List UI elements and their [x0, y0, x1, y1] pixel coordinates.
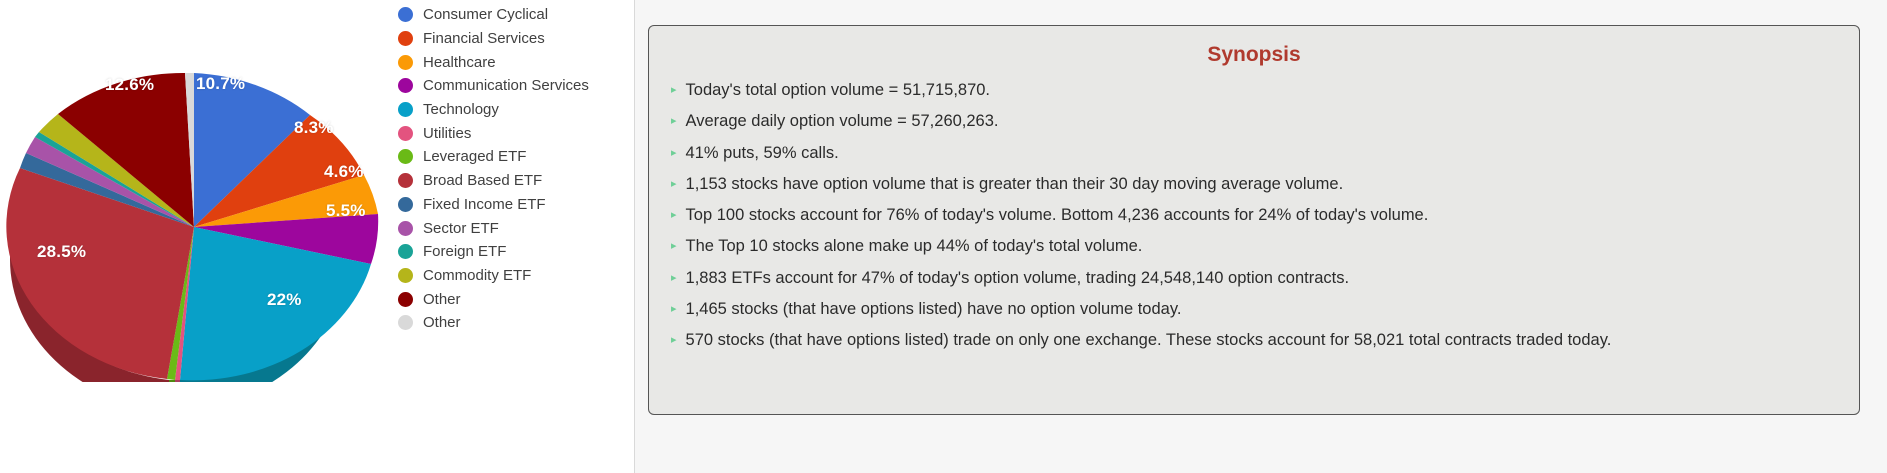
- bullet-triangle-icon: ▸: [671, 239, 677, 254]
- legend-swatch-icon: [398, 126, 413, 141]
- synopsis-bullet-text: Average daily option volume = 57,260,263…: [686, 112, 999, 130]
- legend-swatch-icon: [398, 149, 413, 164]
- synopsis-panel: Synopsis ▸Today's total option volume = …: [648, 25, 1860, 415]
- synopsis-bullet: ▸1,153 stocks have option volume that is…: [649, 174, 1859, 196]
- legend-label: Leveraged ETF: [423, 149, 526, 164]
- legend-label: Fixed Income ETF: [423, 197, 546, 212]
- synopsis-bullet: ▸1,465 stocks (that have options listed)…: [649, 299, 1859, 321]
- legend-item-communication-services[interactable]: Communication Services: [396, 74, 632, 98]
- legend-item-other-gray[interactable]: Other: [396, 311, 632, 335]
- legend-item-foreign-etf[interactable]: Foreign ETF: [396, 240, 632, 264]
- synopsis-bullet-text: 41% puts, 59% calls.: [686, 144, 839, 162]
- pie-label-communication-services: 5.5%: [326, 201, 366, 221]
- synopsis-bullet-text: 1,465 stocks (that have options listed) …: [686, 300, 1182, 318]
- synopsis-title: Synopsis: [649, 43, 1859, 67]
- synopsis-bullet: ▸1,883 ETFs account for 47% of today's o…: [649, 268, 1859, 290]
- legend-item-healthcare[interactable]: Healthcare: [396, 50, 632, 74]
- synopsis-bullet: ▸570 stocks (that have options listed) t…: [649, 330, 1859, 352]
- synopsis-bullet-list: ▸Today's total option volume = 51,715,87…: [649, 80, 1859, 352]
- legend-label: Commodity ETF: [423, 268, 531, 283]
- bullet-triangle-icon: ▸: [671, 208, 677, 223]
- chart-legend: Consumer Cyclical Financial Services Hea…: [396, 3, 632, 335]
- synopsis-bullet: ▸Today's total option volume = 51,715,87…: [649, 80, 1859, 102]
- pie-label-consumer-cyclical: 10.7%: [196, 74, 245, 94]
- synopsis-bullet-text: Today's total option volume = 51,715,870…: [686, 81, 991, 99]
- synopsis-bullet: ▸41% puts, 59% calls.: [649, 143, 1859, 165]
- legend-item-broad-based-etf[interactable]: Broad Based ETF: [396, 169, 632, 193]
- bullet-triangle-icon: ▸: [671, 271, 677, 286]
- legend-swatch-icon: [398, 197, 413, 212]
- legend-label: Financial Services: [423, 31, 545, 46]
- legend-swatch-icon: [398, 315, 413, 330]
- legend-label: Sector ETF: [423, 221, 499, 236]
- synopsis-bullet-text: The Top 10 stocks alone make up 44% of t…: [686, 237, 1143, 255]
- bullet-triangle-icon: ▸: [671, 177, 677, 192]
- legend-swatch-icon: [398, 55, 413, 70]
- bullet-triangle-icon: ▸: [671, 333, 677, 348]
- legend-label: Consumer Cyclical: [423, 7, 548, 22]
- legend-item-consumer-cyclical[interactable]: Consumer Cyclical: [396, 3, 632, 27]
- pie-chart[interactable]: 10.7% 8.3% 4.6% 5.5% 22% 28.5% 12.6%: [4, 22, 384, 382]
- pie-label-technology: 22%: [267, 290, 302, 310]
- synopsis-bullet-text: 1,883 ETFs account for 47% of today's op…: [686, 269, 1350, 287]
- legend-swatch-icon: [398, 78, 413, 93]
- legend-item-commodity-etf[interactable]: Commodity ETF: [396, 264, 632, 288]
- legend-label: Healthcare: [423, 55, 496, 70]
- legend-swatch-icon: [398, 244, 413, 259]
- bullet-triangle-icon: ▸: [671, 114, 677, 129]
- synopsis-bullet-text: 570 stocks (that have options listed) tr…: [686, 331, 1612, 349]
- legend-swatch-icon: [398, 268, 413, 283]
- legend-label: Foreign ETF: [423, 244, 506, 259]
- legend-item-utilities[interactable]: Utilities: [396, 121, 632, 145]
- synopsis-bullet: ▸Top 100 stocks account for 76% of today…: [649, 205, 1859, 227]
- legend-label: Utilities: [423, 126, 471, 141]
- pie-label-healthcare: 4.6%: [324, 162, 364, 182]
- legend-swatch-icon: [398, 221, 413, 236]
- legend-label: Other: [423, 292, 461, 307]
- legend-swatch-icon: [398, 173, 413, 188]
- legend-item-other-dark[interactable]: Other: [396, 287, 632, 311]
- legend-label: Broad Based ETF: [423, 173, 542, 188]
- synopsis-bullet-text: Top 100 stocks account for 76% of today'…: [686, 206, 1429, 224]
- legend-label: Technology: [423, 102, 499, 117]
- pie-label-other-dark: 12.6%: [105, 75, 154, 95]
- legend-item-sector-etf[interactable]: Sector ETF: [396, 216, 632, 240]
- synopsis-region: Synopsis ▸Today's total option volume = …: [635, 0, 1887, 473]
- pie-label-financial-services: 8.3%: [294, 118, 334, 138]
- legend-label: Communication Services: [423, 78, 589, 93]
- synopsis-bullet: ▸Average daily option volume = 57,260,26…: [649, 111, 1859, 133]
- legend-swatch-icon: [398, 7, 413, 22]
- bullet-triangle-icon: ▸: [671, 146, 677, 161]
- pie-label-broad-based-etf: 28.5%: [37, 242, 86, 262]
- legend-swatch-icon: [398, 102, 413, 117]
- legend-item-leveraged-etf[interactable]: Leveraged ETF: [396, 145, 632, 169]
- synopsis-bullet-text: 1,153 stocks have option volume that is …: [686, 175, 1344, 193]
- bullet-triangle-icon: ▸: [671, 83, 677, 98]
- page-root: 10.7% 8.3% 4.6% 5.5% 22% 28.5% 12.6% Con…: [0, 0, 1887, 473]
- legend-swatch-icon: [398, 31, 413, 46]
- legend-item-technology[interactable]: Technology: [396, 98, 632, 122]
- legend-item-fixed-income-etf[interactable]: Fixed Income ETF: [396, 193, 632, 217]
- legend-item-financial-services[interactable]: Financial Services: [396, 27, 632, 51]
- synopsis-bullet: ▸The Top 10 stocks alone make up 44% of …: [649, 236, 1859, 258]
- pie-chart-panel: 10.7% 8.3% 4.6% 5.5% 22% 28.5% 12.6% Con…: [0, 0, 632, 473]
- legend-swatch-icon: [398, 292, 413, 307]
- bullet-triangle-icon: ▸: [671, 302, 677, 317]
- legend-label: Other: [423, 315, 461, 330]
